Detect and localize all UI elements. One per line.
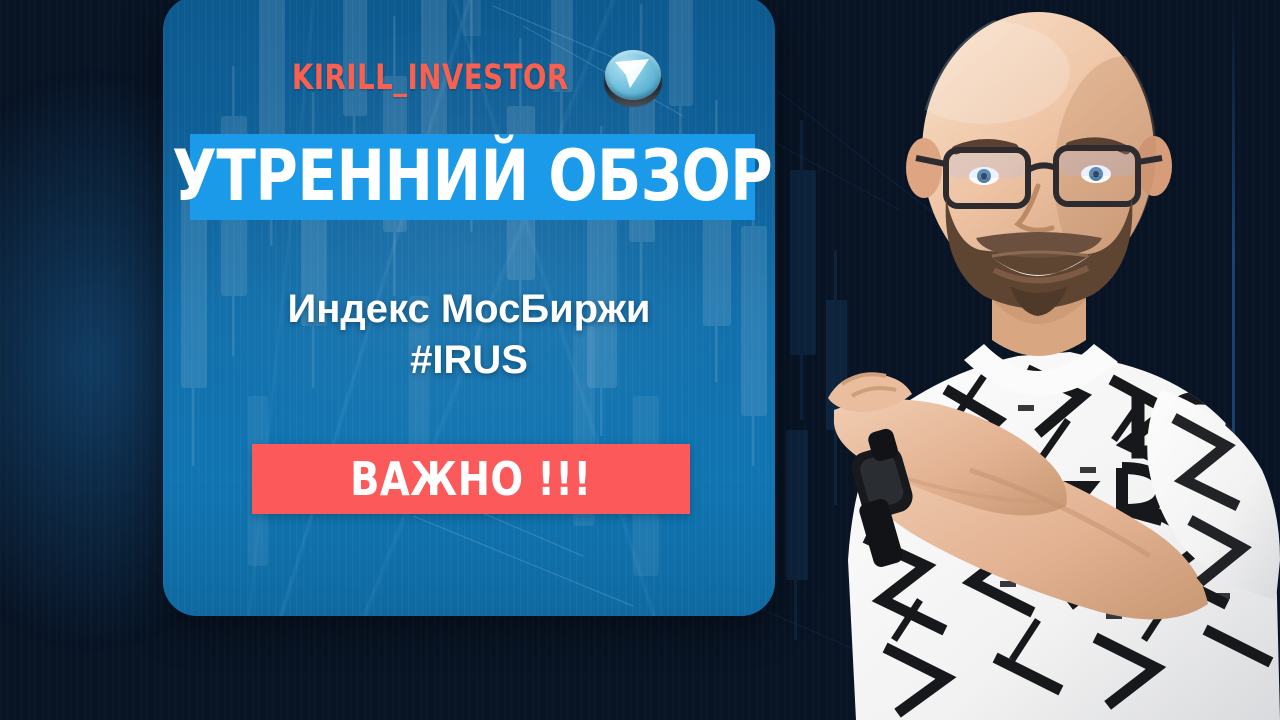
telegram-paper-plane-icon[interactable] <box>601 47 665 109</box>
channel-name: KIRILL_INVESTOR <box>292 58 569 98</box>
presenter-photo <box>770 0 1280 720</box>
head <box>898 12 1198 316</box>
channel-header: KIRILL_INVESTOR <box>163 50 775 106</box>
subtitle-line-2: #IRUS <box>163 335 775 386</box>
headline-text: УТРЕННИЙ ОБЗОР <box>172 141 772 211</box>
headline-banner: УТРЕННИЙ ОБЗОР <box>190 134 755 220</box>
subtitle-block: Индекс МосБиржи #IRUS <box>163 284 775 386</box>
promo-card: KIRILL_INVESTOR УТРЕННИЙ ОБЗОР Индекс Мо… <box>163 0 775 616</box>
paper-plane-glyph <box>613 57 651 91</box>
alert-label: ВАЖНО !!! <box>350 452 591 506</box>
subtitle-line-1: Индекс МосБиржи <box>163 284 775 335</box>
alert-banner: ВАЖНО !!! <box>252 444 690 514</box>
